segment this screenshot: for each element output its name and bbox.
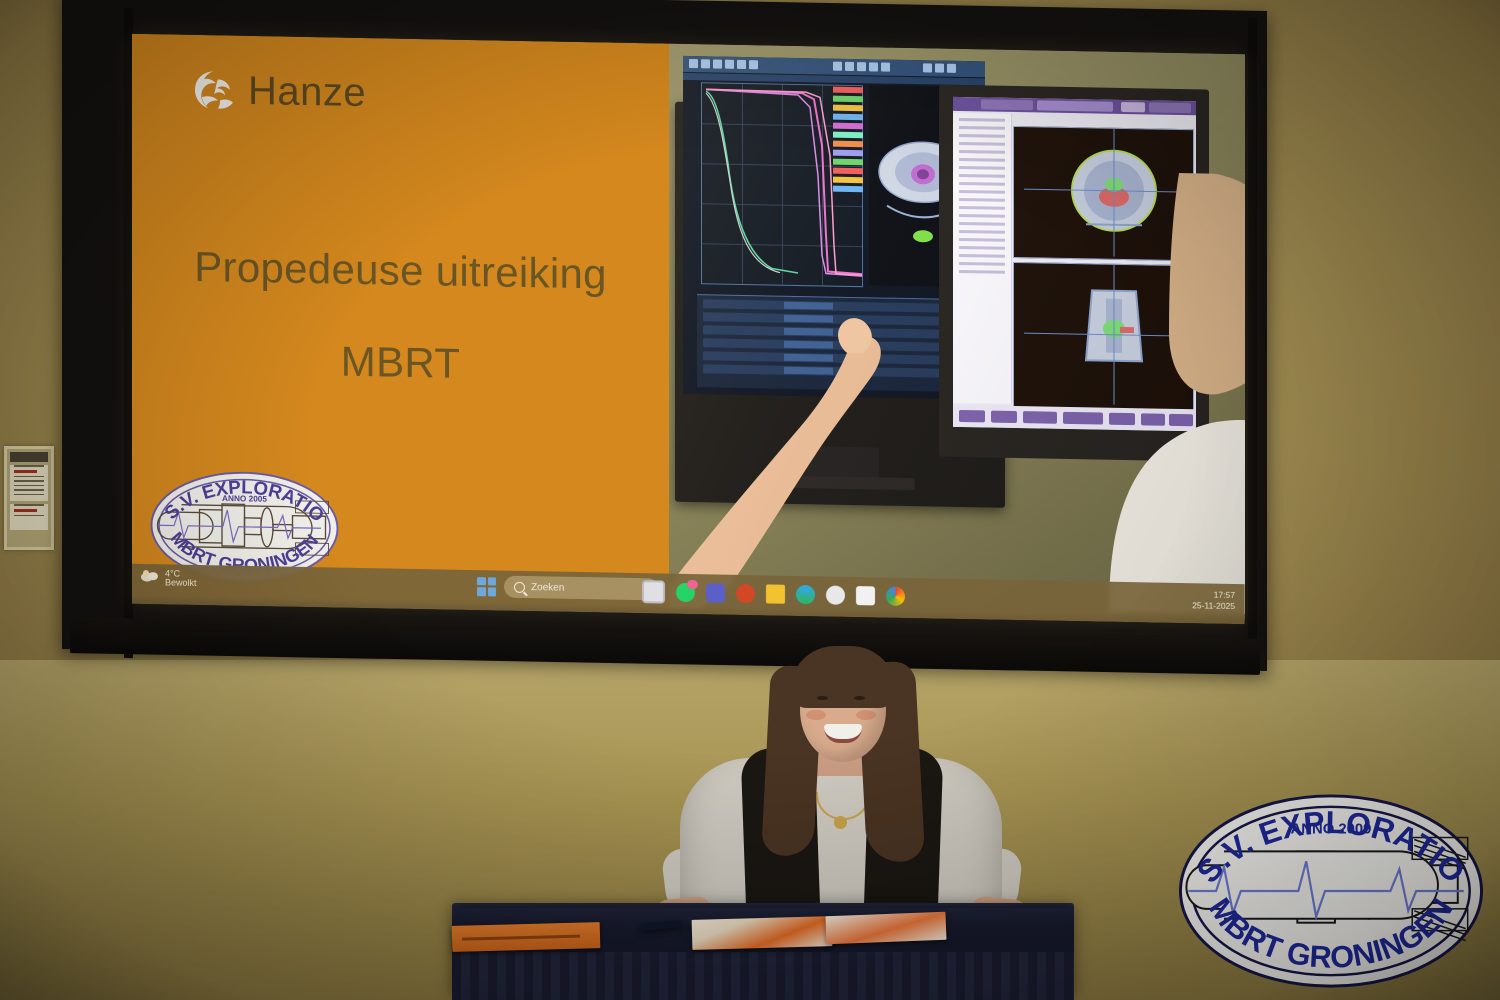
slide-photo-panel: AOC (669, 44, 1245, 620)
chrome-icon[interactable] (886, 587, 905, 606)
framed-notice (4, 446, 54, 550)
search-placeholder: Zoeken (531, 582, 564, 594)
projected-desktop: Hanze Propedeuse uitreiking MBRT (132, 34, 1245, 624)
taskbar-pinned-apps[interactable] (642, 580, 905, 608)
projection-screen: Hanze Propedeuse uitreiking MBRT (62, 0, 1267, 672)
eye-right (854, 696, 865, 700)
search-input[interactable]: Zoeken (504, 576, 659, 601)
room-background: Hanze Propedeuse uitreiking MBRT (0, 0, 1500, 1000)
exploratio-logo-overlay: S.V. EXPLORATIO ANNO 2009 MBRT GRONINGEN (1172, 788, 1490, 994)
folder-icon[interactable] (766, 584, 785, 603)
cloud-icon (140, 568, 160, 588)
notice-body-upper (10, 465, 48, 501)
cheek-right (856, 710, 876, 720)
hanze-logo: Hanze (192, 67, 366, 116)
photo-person (1099, 172, 1245, 616)
pointing-arm (669, 223, 1081, 619)
weather-condition: Bewolkt (165, 578, 197, 588)
dvh-structure-legend (833, 87, 863, 196)
edge-icon[interactable] (796, 585, 815, 604)
task-view-icon[interactable] (642, 580, 665, 603)
taskbar-clock[interactable]: 17:57 25-11-2025 (1192, 589, 1235, 611)
presentation-slide: Hanze Propedeuse uitreiking MBRT (132, 34, 1245, 619)
eye-left (817, 696, 828, 700)
table-drape-pleats (452, 952, 1074, 1000)
slide-logo-anno-text: ANNO 2005 (222, 494, 267, 504)
slide-title-line-1: Propedeuse uitreiking (132, 242, 669, 300)
overlay-logo-anno-text: ANNO 2009 (1291, 822, 1372, 838)
screen-right-edge (1248, 18, 1257, 658)
hair-top (790, 646, 896, 708)
necklace-pendant (834, 816, 847, 829)
notice-body-lower (10, 504, 48, 530)
certificate-folder-orange (452, 922, 601, 952)
seated-graduate (640, 640, 1040, 940)
windows-start-icon[interactable] (477, 577, 496, 596)
clock-date: 25-11-2025 (1192, 600, 1235, 611)
slide-title-line-2: MBRT (132, 334, 669, 392)
hanze-swirl-icon (192, 67, 238, 114)
cheek-left (806, 710, 826, 720)
hanze-wordmark: Hanze (248, 71, 366, 113)
whatsapp-icon[interactable] (676, 583, 695, 602)
taskbar-center-group[interactable]: Zoeken (477, 575, 659, 600)
notice-header-bar (10, 452, 48, 462)
taskbar-weather-widget[interactable]: 4°C Bewolkt (140, 568, 197, 589)
powerpoint-icon[interactable] (736, 584, 755, 603)
slide-left-panel: Hanze Propedeuse uitreiking MBRT (132, 34, 669, 609)
clock-time: 17:57 (1192, 589, 1235, 600)
store-icon[interactable] (856, 586, 875, 605)
open-diploma-left (692, 916, 833, 950)
search-icon (514, 581, 525, 592)
open-diploma-right (826, 912, 947, 945)
chatgpt-icon[interactable] (826, 586, 845, 605)
teams-icon[interactable] (706, 583, 725, 602)
